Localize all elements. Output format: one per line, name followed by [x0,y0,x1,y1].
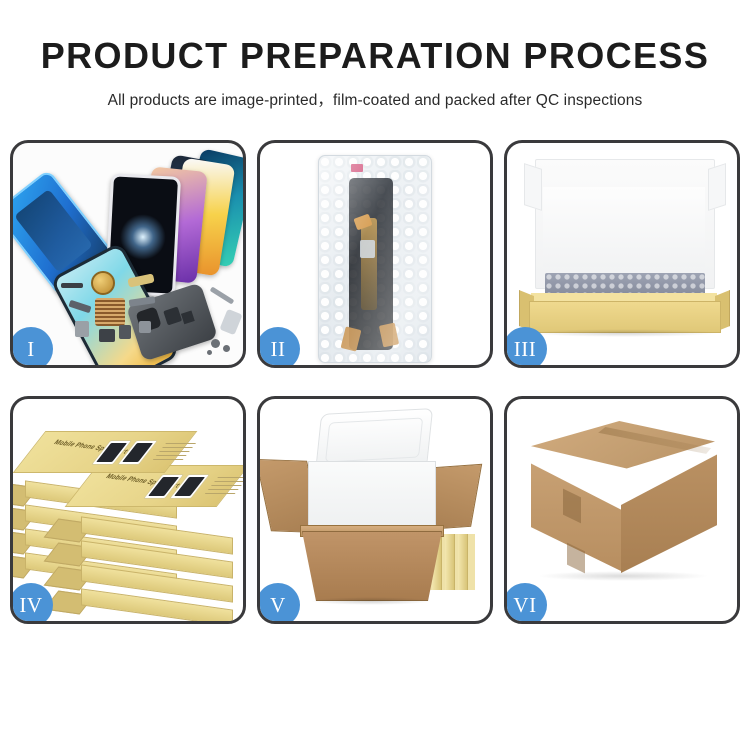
step-badge-5: V [257,583,300,624]
white-foam-sheet [543,187,705,267]
box-label-area: Mobile Phone Spare Parts [89,473,227,499]
step-panel-sealed-carton: VI [504,396,740,624]
retail-box-stack: Mobile Phone Spare Parts [15,417,243,613]
product-preparation-infographic: PRODUCT PREPARATION PROCESS All products… [0,0,750,750]
step-panel-bubble-wrapping: II [257,140,493,368]
spare-part [99,329,115,342]
step-image-boxed-stack: Mobile Phone Spare Parts [13,399,243,621]
step-image-foam-box-packing [507,143,737,365]
step-badge-2: II [257,327,300,368]
spare-part [75,321,89,337]
screws-part [211,339,220,348]
carton-body [302,531,442,601]
step-panel-foam-box-packing: III [504,140,740,368]
step-badge-6: VI [504,583,547,624]
step-badge-4: IV [10,583,53,624]
step-badge-3: III [504,327,547,368]
spare-part [61,283,83,288]
step-image-raw-components [13,143,243,365]
step-image-sealed-carton [507,399,737,621]
bubble-wrap-bag [318,155,432,363]
drop-shadow [310,597,432,605]
drop-shadow [529,329,719,337]
spare-part [219,309,242,335]
spare-part [139,321,151,333]
spare-part [119,325,131,339]
drop-shadow [537,571,709,581]
box-label-area: Mobile Phone Spare Parts [37,439,175,465]
page-title: PRODUCT PREPARATION PROCESS [0,38,750,74]
header: PRODUCT PREPARATION PROCESS All products… [0,0,750,110]
step-panel-carton-loading: V [257,396,493,624]
process-steps-grid: I II [10,140,740,682]
spare-part [210,286,235,304]
step-panel-raw-components: I [10,140,246,368]
carton-right-face [621,447,717,573]
mesh-grid-part [95,298,125,326]
step-image-carton-loading [260,399,490,621]
step-image-bubble-wrapping [260,143,490,365]
plastic-gloss [319,156,431,362]
step-badge-1: I [10,327,53,368]
copper-coil-part [91,271,115,295]
step-panel-boxed-stack: Mobile Phone Spare Parts [10,396,246,624]
page-subtitle: All products are image-printed，film-coat… [0,88,750,110]
